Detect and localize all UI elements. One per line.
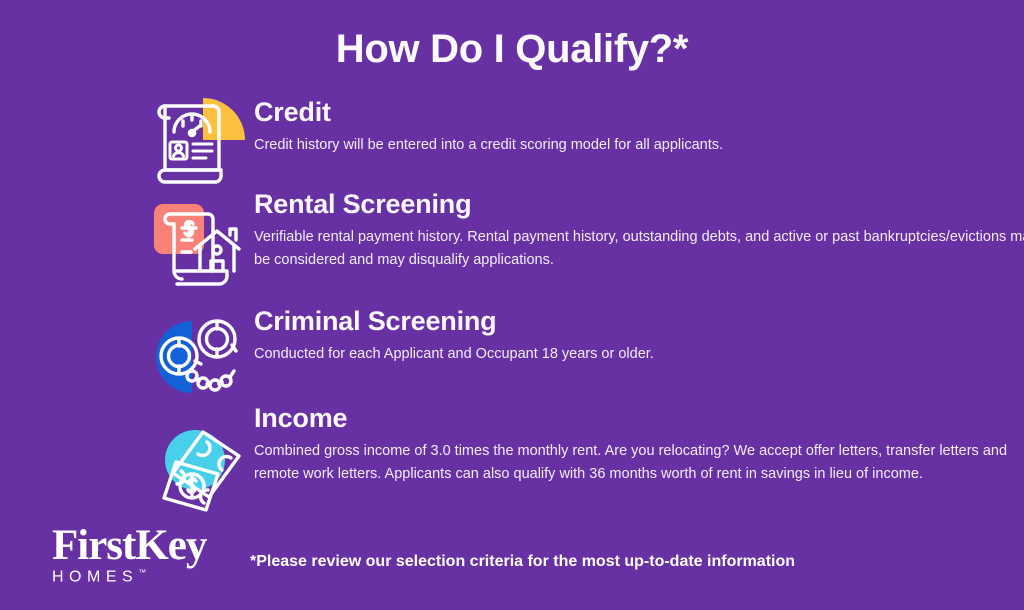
section-credit-heading: Credit	[254, 98, 1024, 128]
handcuffs-icon	[148, 311, 248, 403]
section-income-heading: Income	[254, 404, 1024, 434]
trademark-icon: ™	[138, 568, 146, 577]
qualification-criteria-poster: How Do I Qualify?*	[0, 0, 1024, 610]
section-income-body: Income Combined gross income of 3.0 time…	[254, 404, 1024, 487]
section-credit-body: Credit Credit history will be entered in…	[254, 98, 1024, 157]
section-credit-description: Credit history will be entered into a cr…	[254, 134, 1024, 157]
credit-report-gauge-icon	[148, 92, 248, 184]
section-rental-body: Rental Screening Verifiable rental payme…	[254, 190, 1024, 273]
footnote-disclaimer: *Please review our selection criteria fo…	[250, 553, 795, 571]
logo-wordmark: FirstKey	[52, 524, 252, 567]
section-criminal-description: Conducted for each Applicant and Occupan…	[254, 343, 1024, 366]
section-rental-description: Verifiable rental payment history. Renta…	[254, 226, 1024, 273]
logo-subtext-label: HOMES	[52, 568, 138, 585]
section-income-description: Combined gross income of 3.0 times the m…	[254, 440, 1024, 487]
logo-subtext: HOMES™	[52, 569, 252, 585]
rental-receipt-house-icon	[148, 198, 248, 290]
section-criminal-body: Criminal Screening Conducted for each Ap…	[254, 307, 1024, 366]
page-title: How Do I Qualify?*	[0, 27, 1024, 72]
section-rental-heading: Rental Screening	[254, 190, 1024, 220]
section-criminal-heading: Criminal Screening	[254, 307, 1024, 337]
firstkey-homes-logo: FirstKey HOMES™	[52, 524, 252, 590]
banknotes-dollar-icon	[148, 424, 248, 516]
